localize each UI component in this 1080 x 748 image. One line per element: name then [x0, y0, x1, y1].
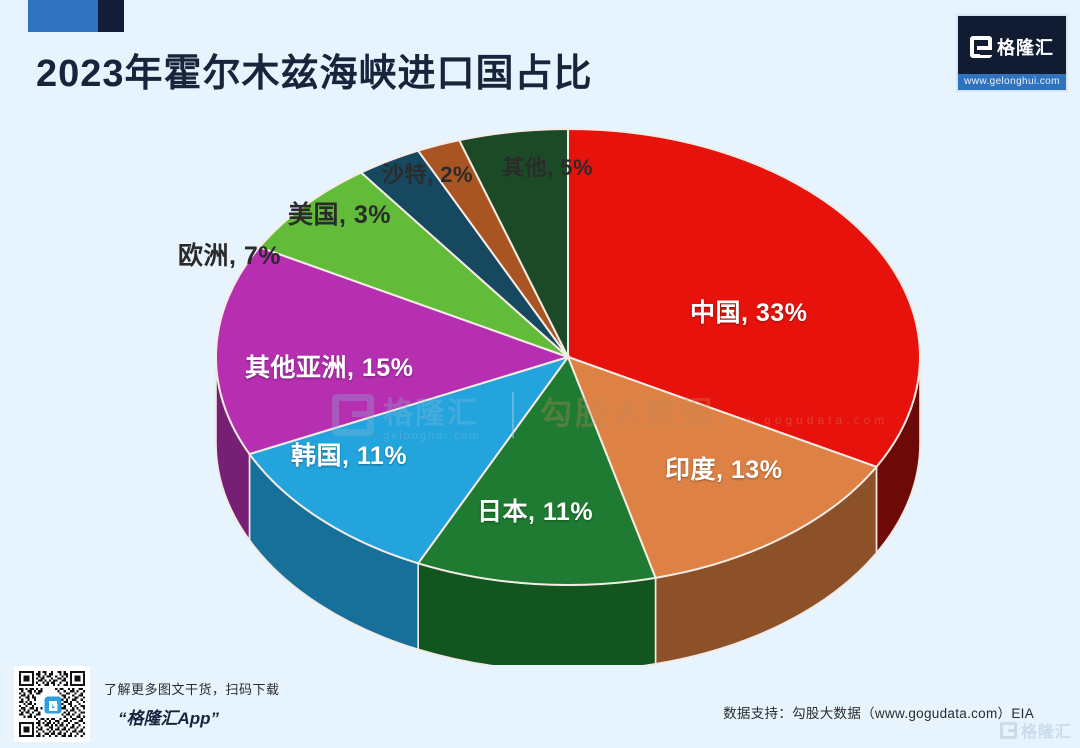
logo-main: 格隆汇	[958, 16, 1066, 74]
watermark-corner-g-icon	[1000, 722, 1017, 739]
pie-label-中国: 中国, 33%	[690, 293, 807, 329]
app-name-text: “格隆汇App”	[104, 704, 280, 729]
header-accent-bar-blue	[28, 0, 98, 32]
pie-label-欧洲: 欧洲, 7%	[178, 236, 281, 272]
page-title: 2023年霍尔木兹海峡进口国占比	[36, 42, 593, 97]
qr-hint-text: 了解更多图文干货，扫码下载	[104, 679, 280, 698]
header-accent-bar-navy	[98, 0, 124, 32]
qr-code-icon	[17, 669, 87, 739]
pie-label-沙特: 沙特, 2%	[382, 157, 473, 189]
qr-code[interactable]	[14, 666, 90, 742]
logo-brand-name: 格隆汇	[997, 34, 1054, 60]
pie-label-韩国: 韩国, 11%	[291, 436, 407, 472]
data-source-note: 数据支持：勾股大数据（www.gogudata.com）EIA	[723, 702, 1034, 722]
gelonghui-logo: 格隆汇 www.gelonghui.com	[956, 14, 1068, 92]
gelonghui-g-icon	[970, 36, 992, 58]
logo-url: www.gelonghui.com	[958, 74, 1066, 90]
watermark-divider	[512, 392, 514, 438]
pie-label-日本: 日本, 11%	[477, 492, 593, 528]
footer-download-block: 了解更多图文干货，扫码下载 “格隆汇App”	[14, 666, 280, 742]
slide-canvas: 2023年霍尔木兹海峡进口国占比 格隆汇 www.gelonghui.com 格…	[0, 0, 1080, 748]
pie-label-其他亚洲: 其他亚洲, 15%	[245, 348, 413, 384]
pie-label-其他: 其他, 5%	[502, 150, 593, 182]
pie-label-印度: 印度, 13%	[665, 450, 782, 486]
pie-label-美国: 美国, 3%	[288, 195, 391, 231]
